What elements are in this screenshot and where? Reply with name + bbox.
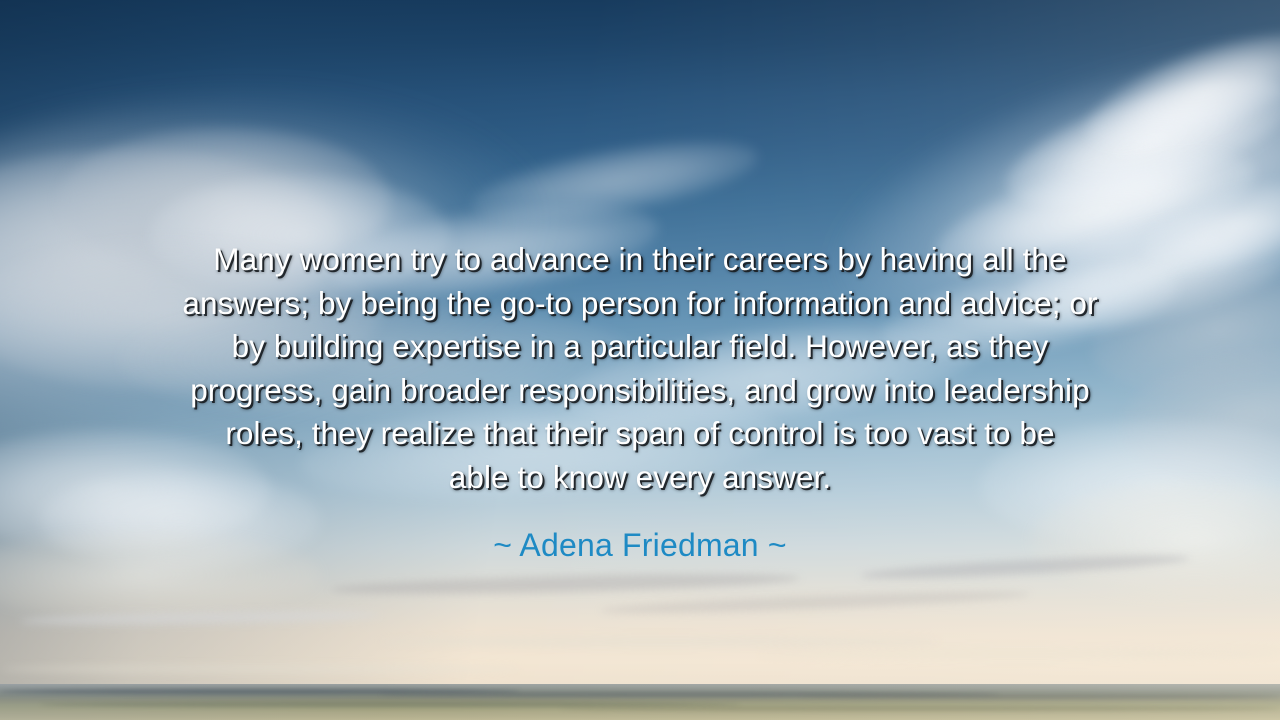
quote-line: able to know every answer.: [109, 456, 1171, 500]
quote-image-canvas: Many women try to advance in their caree…: [0, 0, 1280, 720]
author-attribution: ~ Adena Friedman ~: [0, 525, 1280, 565]
haze-streak: [0, 664, 520, 674]
haze-streak: [600, 588, 1030, 617]
quote-line: answers; by being the go-to person for i…: [109, 282, 1171, 326]
haze-streak: [760, 648, 1280, 660]
quote-line: Many women try to advance in their caree…: [109, 238, 1171, 282]
quote-line: progress, gain broader responsibilities,…: [109, 369, 1171, 413]
haze-streak: [330, 570, 800, 597]
haze-streak: [380, 636, 940, 647]
quote-line: by building expertise in a particular fi…: [109, 325, 1171, 369]
ridge-line: [560, 706, 1280, 711]
ridge-line: [800, 694, 1280, 699]
quote-line: roles, they realize that their span of c…: [109, 412, 1171, 456]
quote-text-block: Many women try to advance in their caree…: [109, 238, 1171, 499]
